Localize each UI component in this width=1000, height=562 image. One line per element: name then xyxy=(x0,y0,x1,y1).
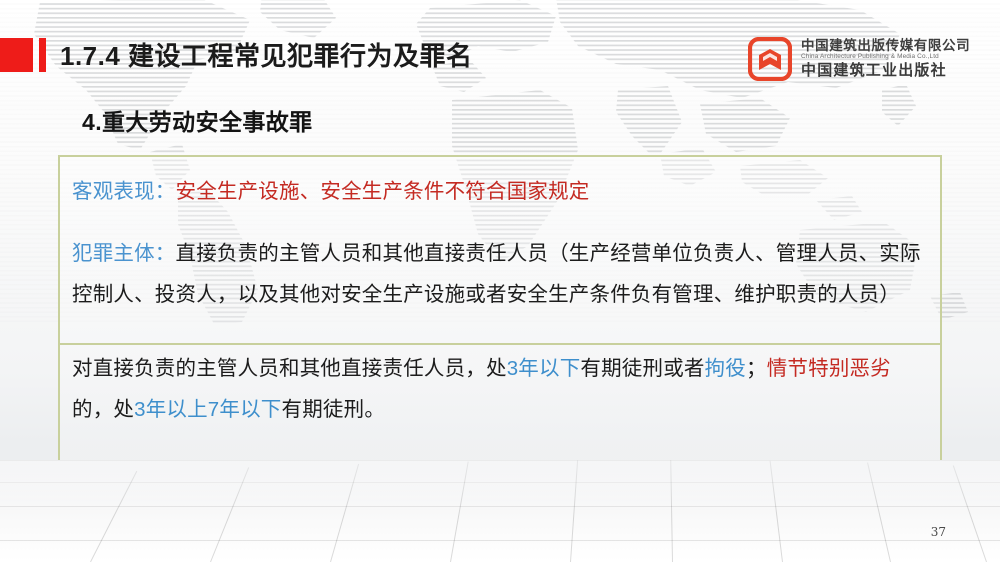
penalty-especially-serious: 情节特别恶劣 xyxy=(767,357,891,380)
publisher-logo: 中国建筑出版传媒有限公司 China Architecture Publishi… xyxy=(748,31,960,86)
perspective-floor xyxy=(0,460,1000,562)
publisher-company-cn: 中国建筑出版传媒有限公司 xyxy=(801,39,970,53)
penalty-term-3-to-7-years: 3年以上7年以下 xyxy=(134,398,281,421)
page-number: 37 xyxy=(931,525,946,539)
penalty-detention: 拘役 xyxy=(705,357,746,380)
paragraph-penalty: 对直接负责的主管人员和其他直接责任人员，处3年以下有期徒刑或者拘役；情节特别恶劣… xyxy=(72,335,928,430)
text-objective-manifestation: 安全生产设施、安全生产条件不符合国家规定 xyxy=(176,180,590,203)
penalty-seg-1: 对直接负责的主管人员和其他直接责任人员，处 xyxy=(72,357,507,380)
content-box: 客观表现：安全生产设施、安全生产条件不符合国家规定 犯罪主体：直接负责的主管人员… xyxy=(58,155,942,462)
penalty-seg-5: ； xyxy=(746,357,767,380)
page-title: 1.7.4 建设工程常见犯罪行为及罪名 xyxy=(60,36,473,73)
content-box-inner: 客观表现：安全生产设施、安全生产条件不符合国家规定 犯罪主体：直接负责的主管人员… xyxy=(60,157,940,460)
label-criminal-subject: 犯罪主体： xyxy=(72,242,176,265)
publisher-book-mark-icon xyxy=(748,37,792,81)
publisher-logo-text: 中国建筑出版传媒有限公司 China Architecture Publishi… xyxy=(801,39,970,79)
publisher-imprint-cn: 中国建筑工业出版社 xyxy=(801,63,970,78)
label-objective-manifestation: 客观表现： xyxy=(72,180,176,203)
publisher-company-en: China Architecture Publishing & Media Co… xyxy=(801,54,970,60)
text-criminal-subject: 直接负责的主管人员和其他直接责任人员（生产经营单位负责人、管理人员、实际控制人、… xyxy=(72,242,921,306)
penalty-term-under-3-years: 3年以下 xyxy=(507,357,581,380)
page-subtitle: 4.重大劳动安全事故罪 xyxy=(82,103,313,137)
paragraph-objective-and-subject: 客观表现：安全生产设施、安全生产条件不符合国家规定 xyxy=(72,171,928,212)
title-accent-block xyxy=(0,38,33,72)
paragraph-criminal-subject: 犯罪主体：直接负责的主管人员和其他直接责任人员（生产经营单位负责人、管理人员、实… xyxy=(72,233,928,315)
slide-canvas: 1.7.4 建设工程常见犯罪行为及罪名 4.重大劳动安全事故罪 中国建筑出版传媒… xyxy=(0,0,1000,562)
content-divider xyxy=(60,343,940,345)
title-accent-bar xyxy=(39,38,46,72)
penalty-seg-7: 的，处 xyxy=(72,398,134,421)
penalty-seg-3: 有期徒刑或者 xyxy=(580,357,704,380)
penalty-seg-9: 有期徒刑。 xyxy=(282,398,386,421)
